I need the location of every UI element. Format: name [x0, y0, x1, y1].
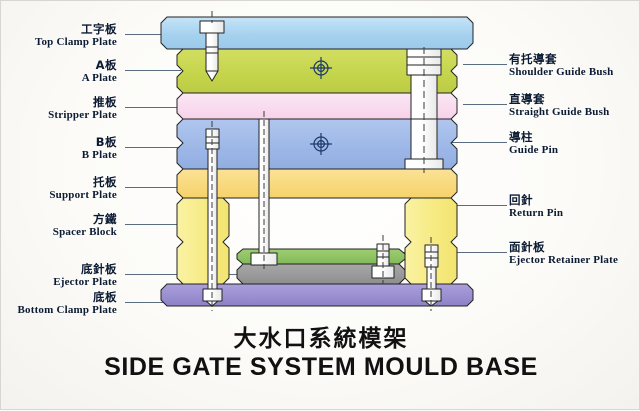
label-a-plate-en: A Plate	[82, 72, 117, 84]
label-support-plate-cn: 托板	[49, 176, 117, 189]
plate-spacer-block-left	[177, 198, 229, 284]
plate-support-plate	[177, 169, 457, 198]
label-shoulder-guide-bush-en: Shoulder Guide Bush	[509, 66, 613, 78]
label-stripper-plate-en: Stripper Plate	[48, 109, 117, 121]
label-ejector-retainer-plate: 面針板 Ejector Retainer Plate	[509, 241, 618, 266]
leader-top-clamp-plate	[125, 34, 173, 35]
leader-b-plate	[125, 147, 181, 148]
label-spacer-block-en: Spacer Block	[53, 226, 117, 238]
label-guide-pin: 導柱 Guide Pin	[509, 131, 558, 156]
label-a-plate: A板 A Plate	[82, 59, 117, 84]
leader-bottom-clamp-plate	[125, 302, 173, 303]
cap-screw-top	[200, 11, 224, 81]
label-guide-pin-cn: 導柱	[509, 131, 558, 144]
straight-guide-bush	[411, 75, 437, 119]
leader-guide-pin	[436, 142, 507, 143]
shoulder-guide-bush	[407, 49, 441, 75]
label-ejector-retainer-plate-en: Ejector Retainer Plate	[509, 254, 618, 266]
diagram-canvas: 工字板 Top Clamp Plate A板 A Plate 推板 Stripp…	[0, 0, 640, 410]
leader-spacer-block	[125, 224, 181, 225]
sprue-puller-pin	[251, 111, 277, 269]
label-ejector-plate: 底針板 Ejector Plate	[53, 263, 117, 288]
center-mark-b-plate	[310, 133, 332, 155]
title-english: SIDE GATE SYSTEM MOULD BASE	[1, 353, 640, 382]
label-bottom-clamp-plate-en: Bottom Clamp Plate	[17, 304, 117, 316]
label-bottom-clamp-plate: 底板 Bottom Clamp Plate	[17, 291, 117, 316]
plate-ejector-retainer-plate	[237, 249, 405, 264]
leader-shoulder-guide-bush	[463, 64, 507, 65]
leader-stripper-plate	[125, 107, 181, 108]
label-top-clamp-plate-cn: 工字板	[35, 23, 117, 36]
label-b-plate-cn: B板	[82, 136, 117, 149]
label-b-plate: B板 B Plate	[82, 136, 117, 161]
title-chinese: 大水口系統模架	[1, 319, 640, 353]
title-block: 大水口系統模架 SIDE GATE SYSTEM MOULD BASE	[1, 319, 640, 382]
label-shoulder-guide-bush-cn: 有托導套	[509, 53, 613, 66]
label-top-clamp-plate-en: Top Clamp Plate	[35, 36, 117, 48]
leader-a-plate	[125, 70, 181, 71]
label-stripper-plate: 推板 Stripper Plate	[48, 96, 117, 121]
plate-bottom-clamp-plate	[161, 284, 473, 306]
leader-ejector-plate	[125, 274, 242, 275]
label-ejector-plate-en: Ejector Plate	[53, 276, 117, 288]
leader-straight-guide-bush	[463, 104, 507, 105]
label-straight-guide-bush: 直導套 Straight Guide Bush	[509, 93, 609, 118]
label-b-plate-en: B Plate	[82, 149, 117, 161]
leader-ejector-retainer-plate	[391, 252, 507, 253]
return-pin-inner	[372, 235, 394, 284]
label-return-pin-en: Return Pin	[509, 207, 563, 219]
label-support-plate-en: Support Plate	[49, 189, 117, 201]
leader-support-plate	[125, 187, 181, 188]
label-top-clamp-plate: 工字板 Top Clamp Plate	[35, 23, 117, 48]
plate-stripper-plate	[177, 93, 457, 119]
guide-pin	[411, 119, 437, 169]
ejector-pin-left	[203, 121, 222, 311]
label-bottom-clamp-plate-cn: 底板	[17, 291, 117, 304]
return-pin-outer	[376, 244, 390, 284]
support-pillar-screw	[422, 237, 441, 311]
plate-a-plate	[177, 49, 457, 93]
plate-ejector-plate	[237, 264, 405, 284]
label-spacer-block-cn: 方鐵	[53, 213, 117, 226]
plate-b-plate	[177, 119, 457, 169]
label-straight-guide-bush-cn: 直導套	[509, 93, 609, 106]
label-stripper-plate-cn: 推板	[48, 96, 117, 109]
label-return-pin-cn: 回針	[509, 194, 563, 207]
guide-pin-seat	[405, 159, 443, 169]
label-ejector-retainer-plate-cn: 面針板	[509, 241, 618, 254]
label-support-plate: 托板 Support Plate	[49, 176, 117, 201]
label-shoulder-guide-bush: 有托導套 Shoulder Guide Bush	[509, 53, 613, 78]
plate-top-clamp-plate	[161, 17, 473, 49]
plate-spacer-block-right	[405, 198, 457, 284]
label-a-plate-cn: A板	[82, 59, 117, 72]
label-straight-guide-bush-en: Straight Guide Bush	[509, 106, 609, 118]
label-spacer-block: 方鐵 Spacer Block	[53, 213, 117, 238]
label-ejector-plate-cn: 底針板	[53, 263, 117, 276]
label-return-pin: 回針 Return Pin	[509, 194, 563, 219]
label-guide-pin-en: Guide Pin	[509, 144, 558, 156]
center-mark-a-plate	[310, 57, 332, 79]
leader-return-pin	[433, 205, 507, 206]
